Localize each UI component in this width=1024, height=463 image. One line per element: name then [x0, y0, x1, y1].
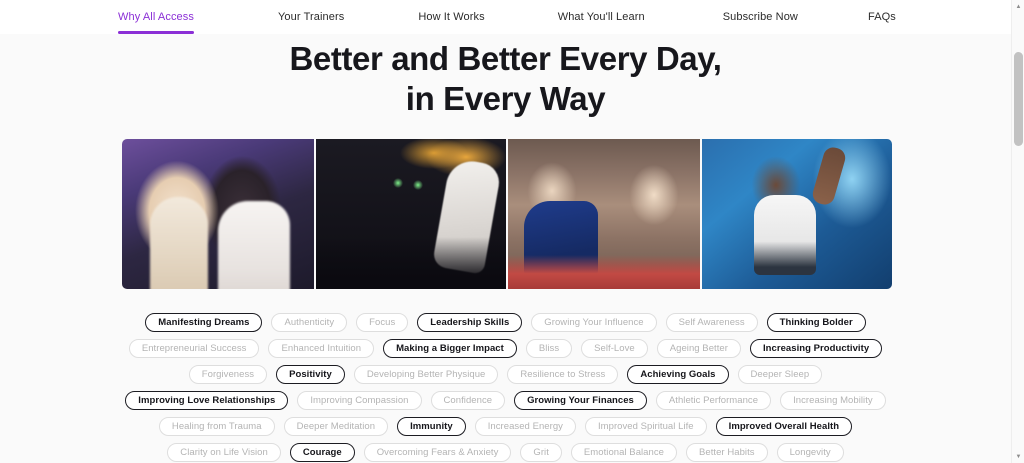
tag-increasing-mobility[interactable]: Increasing Mobility	[780, 391, 886, 410]
tag-confidence[interactable]: Confidence	[431, 391, 506, 410]
nav-item-faqs[interactable]: FAQs	[868, 0, 896, 34]
vertical-scrollbar[interactable]: ▲ ▼	[1011, 0, 1024, 463]
tag-self-love[interactable]: Self-Love	[581, 339, 648, 358]
tag-entrepreneurial-success[interactable]: Entrepreneurial Success	[129, 339, 260, 358]
tag-forgiveness[interactable]: Forgiveness	[189, 365, 267, 384]
tag-row: Improving Love Relationships Improving C…	[0, 391, 1011, 410]
tag-achieving-goals[interactable]: Achieving Goals	[627, 365, 728, 384]
tag-immunity[interactable]: Immunity	[397, 417, 466, 436]
tag-manifesting-dreams[interactable]: Manifesting Dreams	[145, 313, 262, 332]
tag-authenticity[interactable]: Authenticity	[271, 313, 347, 332]
tag-better-habits[interactable]: Better Habits	[686, 443, 768, 462]
tag-ageing-better[interactable]: Ageing Better	[657, 339, 741, 358]
tag-clarity-on-life-vision[interactable]: Clarity on Life Vision	[167, 443, 281, 462]
nav-item-how-it-works[interactable]: How It Works	[418, 0, 484, 34]
nav-item-label: Why All Access	[118, 11, 194, 23]
tag-increasing-productivity[interactable]: Increasing Productivity	[750, 339, 882, 358]
nav-item-label: Subscribe Now	[723, 11, 798, 23]
tag-developing-better-physique[interactable]: Developing Better Physique	[354, 365, 499, 384]
tag-focus[interactable]: Focus	[356, 313, 408, 332]
nav-item-why-all-access[interactable]: Why All Access	[118, 0, 194, 34]
page-root: Why All Access Your Trainers How It Work…	[0, 0, 1024, 463]
tag-emotional-balance[interactable]: Emotional Balance	[571, 443, 677, 462]
tag-row: Entrepreneurial Success Enhanced Intuiti…	[0, 339, 1011, 358]
gallery-photo-4	[702, 139, 892, 289]
main-navigation: Why All Access Your Trainers How It Work…	[0, 0, 1011, 34]
tag-leadership-skills[interactable]: Leadership Skills	[417, 313, 522, 332]
gallery-photo-1	[122, 139, 314, 289]
nav-item-label: What You'll Learn	[558, 11, 645, 23]
tag-improved-spiritual-life[interactable]: Improved Spiritual Life	[585, 417, 707, 436]
tag-improving-compassion[interactable]: Improving Compassion	[297, 391, 421, 410]
tag-deeper-meditation[interactable]: Deeper Meditation	[284, 417, 388, 436]
tag-grit[interactable]: Grit	[520, 443, 562, 462]
tag-healing-from-trauma[interactable]: Healing from Trauma	[159, 417, 275, 436]
tag-self-awareness[interactable]: Self Awareness	[666, 313, 758, 332]
tag-row: Manifesting Dreams Authenticity Focus Le…	[0, 313, 1011, 332]
tag-thinking-bolder[interactable]: Thinking Bolder	[767, 313, 866, 332]
tag-improving-love-relationships[interactable]: Improving Love Relationships	[125, 391, 288, 410]
tag-improved-overall-health[interactable]: Improved Overall Health	[716, 417, 852, 436]
tag-increased-energy[interactable]: Increased Energy	[475, 417, 576, 436]
scroll-down-arrow-icon[interactable]: ▼	[1012, 450, 1024, 463]
gallery-photo-3	[508, 139, 700, 289]
nav-item-label: FAQs	[868, 11, 896, 23]
nav-item-what-youll-learn[interactable]: What You'll Learn	[558, 0, 645, 34]
nav-item-subscribe-now[interactable]: Subscribe Now	[723, 0, 798, 34]
tag-courage[interactable]: Courage	[290, 443, 355, 462]
tag-overcoming-fears-anxiety[interactable]: Overcoming Fears & Anxiety	[364, 443, 512, 462]
nav-item-label: Your Trainers	[278, 11, 344, 23]
tag-longevity[interactable]: Longevity	[777, 443, 844, 462]
nav-item-your-trainers[interactable]: Your Trainers	[278, 0, 344, 34]
tag-growing-your-finances[interactable]: Growing Your Finances	[514, 391, 647, 410]
tag-deeper-sleep[interactable]: Deeper Sleep	[738, 365, 823, 384]
tag-row: Healing from Trauma Deeper Meditation Im…	[0, 417, 1011, 436]
tag-resilience-to-stress[interactable]: Resilience to Stress	[507, 365, 618, 384]
scrollbar-thumb[interactable]	[1014, 52, 1023, 146]
page-title: Better and Better Every Day, in Every Wa…	[0, 34, 1011, 120]
headline-line-1: Better and Better Every Day,	[289, 40, 721, 77]
photo-gallery	[122, 139, 892, 289]
page-content: Better and Better Every Day, in Every Wa…	[0, 34, 1011, 463]
scroll-up-arrow-icon[interactable]: ▲	[1012, 0, 1024, 13]
headline-line-2: in Every Way	[406, 80, 605, 117]
tag-growing-your-influence[interactable]: Growing Your Influence	[531, 313, 656, 332]
tag-bliss[interactable]: Bliss	[526, 339, 572, 358]
tag-row: Forgiveness Positivity Developing Better…	[0, 365, 1011, 384]
tag-enhanced-intuition[interactable]: Enhanced Intuition	[268, 339, 374, 358]
tag-row: Clarity on Life Vision Courage Overcomin…	[0, 443, 1011, 462]
tag-athletic-performance[interactable]: Athletic Performance	[656, 391, 771, 410]
tag-making-a-bigger-impact[interactable]: Making a Bigger Impact	[383, 339, 517, 358]
tag-positivity[interactable]: Positivity	[276, 365, 345, 384]
nav-item-label: How It Works	[418, 11, 484, 23]
gallery-photo-2	[316, 139, 506, 289]
benefit-tag-cloud: Manifesting Dreams Authenticity Focus Le…	[0, 313, 1011, 463]
